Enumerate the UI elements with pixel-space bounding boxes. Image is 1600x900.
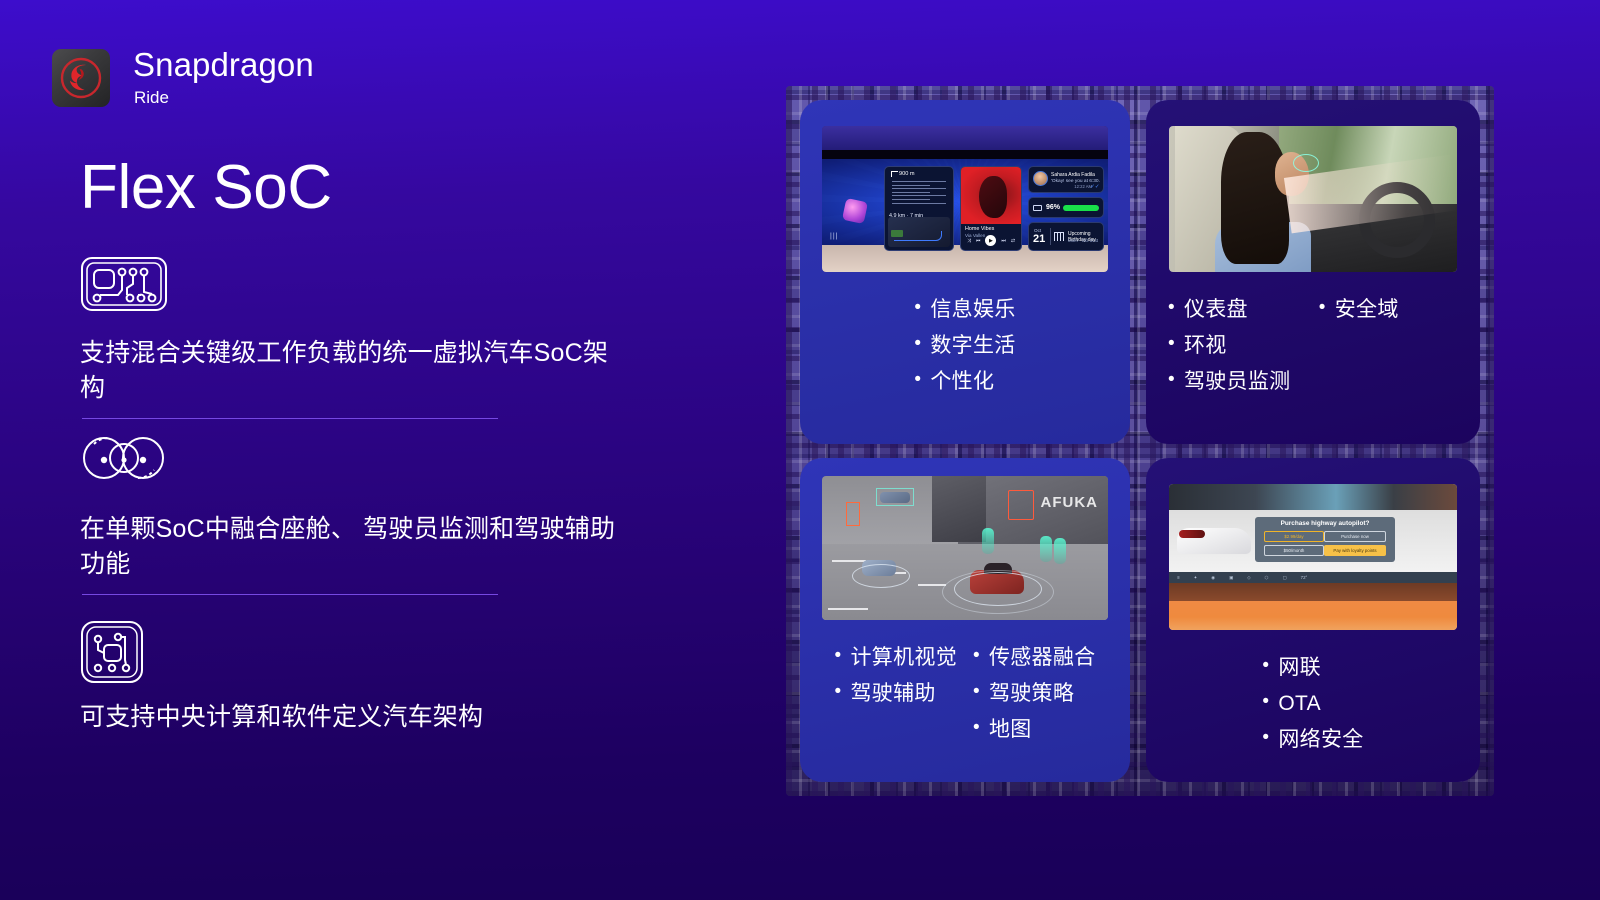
bullet-marker: • <box>973 640 980 672</box>
bullet-label: 驾驶策略 <box>989 676 1074 712</box>
calendar-tile: Oct 21 Upcoming Birthday day Mom · Oct 3… <box>1028 222 1104 251</box>
battery-tile: 96% 225 mi <box>1028 197 1104 218</box>
message-sender: Sahara Ardia Fadila <box>1051 172 1095 178</box>
dialog-title: Purchase highway autopilot? <box>1255 520 1395 527</box>
bullet-marker: • <box>914 364 921 396</box>
card-driver-monitoring[interactable]: •仪表盘 •环视 •驾驶员监测 •安全域 <box>1146 100 1480 444</box>
nav-distance: 900 m <box>899 171 915 177</box>
feature-text: 支持混合关键级工作负载的统一虚拟汽车SoC架构 <box>80 336 620 405</box>
central-compute-icon <box>80 620 620 678</box>
snapdragon-logo-icon <box>52 49 110 107</box>
option-daily-button[interactable]: $2.99/day <box>1264 531 1324 542</box>
option-loyalty-button[interactable]: Pay with loyalty points <box>1324 545 1386 556</box>
bullet-item: •安全域 <box>1319 292 1399 328</box>
bullet-marker: • <box>1262 650 1269 682</box>
bullet-marker: • <box>1168 328 1175 360</box>
card-bullets: •计算机视觉 •驾驶辅助 •传感器融合 •驾驶策略 •地图 <box>800 640 1130 748</box>
bullet-item: •地图 <box>973 712 1095 748</box>
card-cockpit[interactable]: 900 m 4.9 km · 7 min Home Vibes Via Vall… <box>800 100 1130 444</box>
card-adas[interactable]: AFUKA •计算机视觉 •驾驶辅助 •传感器融合 •驾驶策略 •地图 <box>800 458 1130 782</box>
driver-monitoring-image <box>1169 126 1457 272</box>
brand-text: Snapdragon Ride <box>133 48 314 108</box>
bullet-marker: • <box>1262 686 1269 718</box>
bullet-label: 驾驶员监测 <box>1184 364 1291 400</box>
calendar-day: 21 <box>1033 233 1045 245</box>
feature-soc-architecture: 支持混合关键级工作负载的统一虚拟汽车SoC架构 <box>80 256 620 405</box>
bullet-label: 网联 <box>1278 650 1321 686</box>
bullet-marker: • <box>914 292 921 324</box>
bullet-label: 数字生活 <box>930 328 1015 364</box>
bullet-marker: • <box>973 676 980 708</box>
bullet-item: •驾驶策略 <box>973 676 1095 712</box>
bullet-label: 网络安全 <box>1278 722 1363 758</box>
home-indicator-icon: ||| <box>830 233 838 240</box>
brand-subtitle: Ride <box>134 88 314 108</box>
message-tile: Sahara Ardia Fadila 'Okay! see you at 6:… <box>1028 166 1104 193</box>
bullet-label: 信息娱乐 <box>930 292 1015 328</box>
option-purchase-button[interactable]: Purchase now <box>1324 531 1386 542</box>
card-bullets: •信息娱乐 •数字生活 •个性化 <box>800 292 1130 400</box>
feature-central-compute: 可支持中央计算和软件定义汽车架构 <box>80 620 620 735</box>
bullet-marker: • <box>1319 292 1326 324</box>
battery-percent: 96% <box>1046 204 1060 211</box>
bullet-item: •网络安全 <box>1262 722 1363 758</box>
bullet-marker: • <box>835 640 842 672</box>
bullet-marker: • <box>1168 292 1175 324</box>
capability-card-grid: 900 m 4.9 km · 7 min Home Vibes Via Vall… <box>786 86 1494 796</box>
nav-tile: 900 m 4.9 km · 7 min <box>884 166 954 251</box>
feature-text: 可支持中央计算和软件定义汽车架构 <box>80 700 620 735</box>
bullet-label: 地图 <box>989 712 1032 748</box>
bullet-label: 仪表盘 <box>1184 292 1248 328</box>
bullet-item: •网联 <box>1262 650 1363 686</box>
soc-chip-icon <box>80 256 620 314</box>
option-monthly-button[interactable]: $50/month <box>1264 545 1324 556</box>
brand-name: Snapdragon <box>133 48 314 83</box>
feature-divider <box>82 594 498 595</box>
bullet-item: •OTA <box>1262 686 1363 722</box>
bullet-label: 传感器融合 <box>989 640 1096 676</box>
bullet-marker: • <box>835 676 842 708</box>
purchase-dialog: Purchase highway autopilot? $2.99/day Pu… <box>1255 517 1395 562</box>
left-column: Snapdragon Ride Flex SoC <box>0 0 700 900</box>
ota-purchase-image: Purchase highway autopilot? $2.99/day Pu… <box>1169 484 1457 630</box>
fusion-rings-icon <box>80 432 620 490</box>
feature-text: 在单颗SoC中融合座舱、 驾驶员监测和驾驶辅助功能 <box>80 512 620 581</box>
bullet-item: •信息娱乐 <box>914 292 1015 328</box>
bullet-label: OTA <box>1278 686 1321 722</box>
bullet-item: •驾驶员监测 <box>1168 364 1319 400</box>
bullet-item: •驾驶辅助 <box>835 676 957 712</box>
bullet-label: 个性化 <box>930 364 994 400</box>
bullet-marker: • <box>914 328 921 360</box>
card-bullets: •网联 •OTA •网络安全 <box>1146 650 1480 758</box>
music-tile: Home Vibes Via Vallen ⤨⏮▶⏭⇄ <box>960 166 1022 251</box>
bullet-label: 驾驶辅助 <box>851 676 936 712</box>
feature-soc-fusion: 在单颗SoC中融合座舱、 驾驶员监测和驾驶辅助功能 <box>80 432 620 581</box>
page-title: Flex SoC <box>80 157 332 219</box>
adas-city-scene-image: AFUKA <box>822 476 1108 620</box>
bullet-item: •计算机视觉 <box>835 640 957 676</box>
music-title: Home Vibes <box>965 226 994 232</box>
infotainment-cockpit-image: 900 m 4.9 km · 7 min Home Vibes Via Vall… <box>822 126 1108 272</box>
card-bullets: •仪表盘 •环视 •驾驶员监测 •安全域 <box>1146 292 1480 400</box>
traffic-sign-detection-box <box>1008 490 1034 520</box>
brand-lockup: Snapdragon Ride <box>52 48 314 108</box>
bullet-label: 计算机视觉 <box>851 640 958 676</box>
bullet-item: •环视 <box>1168 328 1319 364</box>
bullet-label: 环视 <box>1184 328 1227 364</box>
bullet-label: 安全域 <box>1335 292 1399 328</box>
bullet-item: •仪表盘 <box>1168 292 1319 328</box>
storefront-text: AFUKA <box>1041 494 1099 511</box>
bullet-marker: • <box>1168 364 1175 396</box>
bullet-marker: • <box>973 712 980 744</box>
bullet-item: •传感器融合 <box>973 640 1095 676</box>
card-connectivity[interactable]: Purchase highway autopilot? $2.99/day Pu… <box>1146 458 1480 782</box>
bullet-item: •数字生活 <box>914 328 1015 364</box>
bullet-marker: • <box>1262 722 1269 754</box>
assistant-orb-icon <box>842 198 868 224</box>
bullet-item: •个性化 <box>914 364 1015 400</box>
calendar-event-sub: Mom · Oct 31st <box>1068 238 1098 243</box>
feature-divider <box>82 418 498 419</box>
